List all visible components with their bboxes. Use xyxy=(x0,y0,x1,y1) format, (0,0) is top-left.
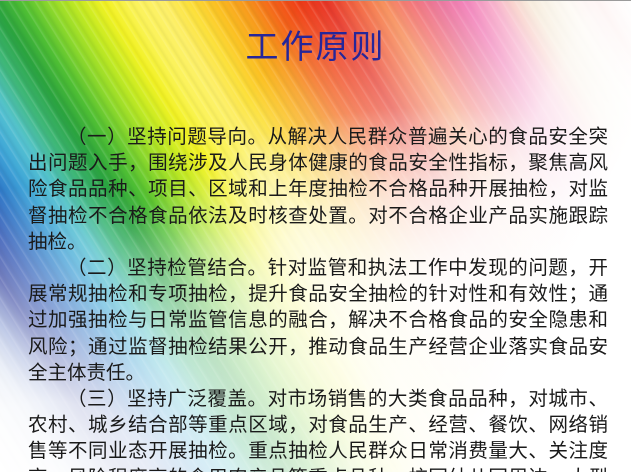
slide-body: （一）坚持问题导向。从解决人民群众普遍关心的食品安全突出问题入手，围绕涉及人民身… xyxy=(28,125,608,472)
body-paragraph-1: （一）坚持问题导向。从解决人民群众普遍关心的食品安全突出问题入手，围绕涉及人民身… xyxy=(28,125,608,256)
presentation-slide: 工作原则 （一）坚持问题导向。从解决人民群众普遍关心的食品安全突出问题入手，围绕… xyxy=(0,0,631,472)
body-paragraph-3: （三）坚持广泛覆盖。对市场销售的大类食品品种，对城市、农村、城乡结合部等重点区域… xyxy=(28,387,608,472)
slide-content: 工作原则 （一）坚持问题导向。从解决人民群众普遍关心的食品安全突出问题入手，围绕… xyxy=(0,1,631,472)
slide-title: 工作原则 xyxy=(0,28,631,68)
body-paragraph-2: （二）坚持检管结合。针对监管和执法工作中发现的问题，开展常规抽检和专项抽检，提升… xyxy=(28,256,608,387)
